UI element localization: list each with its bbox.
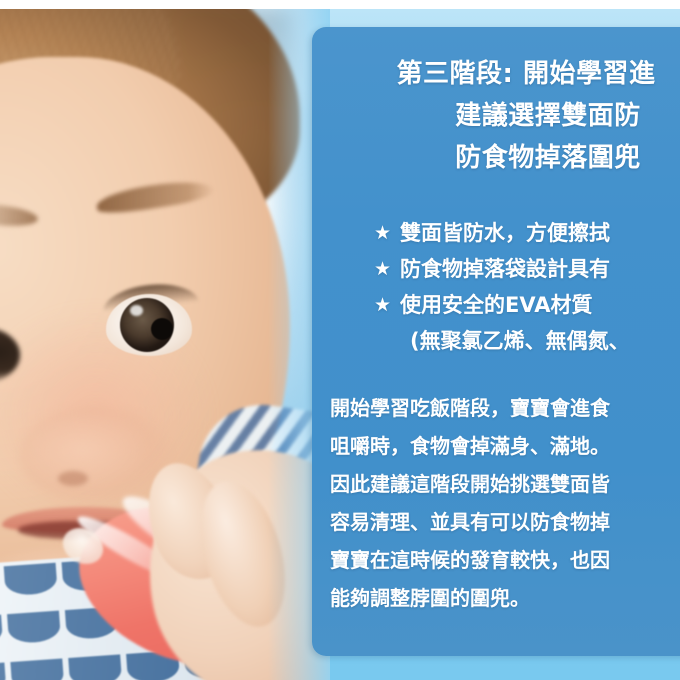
feature-bullet-list: ★雙面皆防水，方便擦拭 ★防食物掉落袋設計具有 ★使用安全的EVA材質 (無聚氯… [312,215,680,359]
body-line-6: 能夠調整脖圍的圍兜。 [330,579,680,617]
baby-eye-right [106,294,192,356]
body-line-5: 寶寶在這時候的發育較快，也因 [330,541,680,579]
body-line-2: 咀嚼時，食物會掉滿身、滿地。 [330,427,680,465]
feature-bullet-3-text: 使用安全的EVA材質 [400,293,592,317]
info-panel: 第三階段: 開始學習進 建議選擇雙面防 防食物掉落圍兜 ★雙面皆防水，方便擦拭 … [312,27,680,656]
baby-nose [20,407,170,503]
feature-bullet-2: ★防食物掉落袋設計具有 [312,251,680,287]
screenshot-root: 第三階段: 開始學習進 建議選擇雙面防 防食物掉落圍兜 ★雙面皆防水，方便擦拭 … [0,0,680,680]
feature-bullet-1: ★雙面皆防水，方便擦拭 [312,215,680,251]
feature-bullet-2-text: 防食物掉落袋設計具有 [400,257,610,281]
feature-bullet-3-subtext: (無聚氯乙烯、無偶氮、 [312,323,680,359]
baby-feeding-photo [0,9,330,680]
baby-nostril [58,471,88,486]
top-white-strip [0,0,680,9]
star-icon: ★ [374,251,391,287]
title-line-2: 建議選擇雙面防 [312,95,680,137]
feature-bullet-1-text: 雙面皆防水，方便擦拭 [400,221,610,245]
body-line-4: 容易清理、並具有可以防食物掉 [330,503,680,541]
panel-content: 第三階段: 開始學習進 建議選擇雙面防 防食物掉落圍兜 ★雙面皆防水，方便擦拭 … [312,27,680,617]
panel-body-paragraph: 開始學習吃飯階段，寶寶會進食 咀嚼時，食物會掉滿身、滿地。 因此建議這階段開始挑… [312,389,680,617]
title-line-3: 防食物掉落圍兜 [312,137,680,179]
photo-inner [0,9,330,680]
pupil [151,318,173,340]
star-icon: ★ [374,287,391,323]
panel-title: 第三階段: 開始學習進 建議選擇雙面防 防食物掉落圍兜 [312,53,680,179]
iris [120,298,174,352]
eye-glint [130,305,143,316]
star-icon: ★ [374,215,391,251]
body-line-1: 開始學習吃飯階段，寶寶會進食 [330,389,680,427]
feature-bullet-3: ★使用安全的EVA材質 [312,287,680,323]
body-line-3: 因此建議這階段開始挑選雙面皆 [330,465,680,503]
title-line-1: 第三階段: 開始學習進 [312,53,680,95]
